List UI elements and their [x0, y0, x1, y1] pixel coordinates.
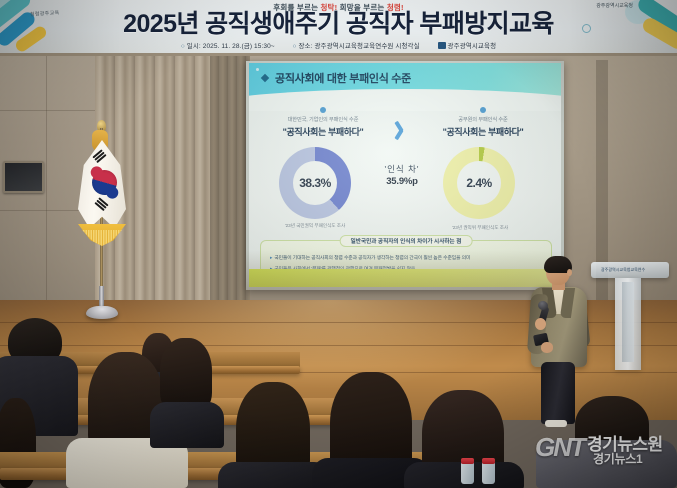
presenter-trousers	[541, 362, 575, 424]
audience-body	[150, 402, 224, 448]
donut-left-value: 38.3	[299, 176, 320, 190]
podium-logo-text: 광주광역시교육청교육연수원	[601, 265, 645, 274]
compare-dot-icon-right	[480, 107, 486, 113]
slide-bottom-band	[249, 269, 561, 287]
flag-fringe-threads	[82, 230, 122, 246]
wall-seam	[46, 55, 47, 325]
gap-value-text: 35.9%p	[366, 176, 438, 187]
slide-footer-title: 일반국민과 공직자의 인식의 차이가 시사하는 점	[340, 235, 473, 247]
donut-left-source: '23년 국민권익 부패인식도 조사	[250, 223, 380, 229]
audience-head	[160, 338, 212, 412]
slide-compare-right: 공무원의 부패인식 수준 "공직사회는 부패하다"	[413, 107, 553, 138]
presentation-slide: 공직사회에 대한 부패인식 수준 대한민국, 기업인의 부패인식 수준 "공직사…	[249, 63, 561, 287]
flag-stand-base	[86, 306, 118, 319]
water-bottle	[482, 462, 495, 484]
podium-top: 광주광역시교육청교육연수원	[591, 262, 669, 278]
slide-compare-left: 대한민국, 기업인의 부패인식 수준 "공직사회는 부패하다"	[253, 107, 393, 138]
compare-left-quote: "공직사회는 부패하다"	[253, 125, 393, 138]
presenter-shoe	[545, 420, 567, 427]
donut-right-source: '23년 권익위 부패인식도 조사	[415, 225, 545, 231]
donut-right-value: 2.4	[466, 176, 481, 190]
wall-seam	[0, 110, 100, 111]
korean-flag	[72, 118, 132, 328]
event-banner: 청렴광주교육 광주광역시교육청 후회를 부르는 청탁! 희망을 부르는 청렴! …	[0, 0, 677, 56]
presenter	[527, 256, 593, 426]
presenter-left-hand	[535, 318, 546, 330]
slide-footer-bullet-1: ▸국민들이 기대하는 공직사회의 청렴 수준과 공직자가 생각하는 청렴의 간극…	[270, 254, 470, 261]
wall-panel	[3, 161, 44, 193]
compare-right-caption: 공무원의 부패인식 수준	[413, 116, 553, 123]
water-bottle	[461, 462, 474, 484]
donut-left-center: 38.3%	[293, 161, 337, 205]
podium: 광주광역시교육청교육연수원	[601, 262, 659, 372]
slide-header-dot	[256, 68, 259, 71]
water-bottle-cap	[482, 458, 495, 464]
footer-line-1-text: 국민들이 기대하는 공직사회의 청렴 수준과 공직자가 생각하는 청렴의 간극이…	[274, 256, 470, 261]
compare-left-caption: 대한민국, 기업인의 부패인식 수준	[253, 116, 393, 123]
audience-body	[536, 440, 677, 488]
stage-curtain-shadow	[210, 55, 250, 323]
donut-right-center: 2.4%	[457, 161, 501, 205]
banner-lighting	[0, 0, 677, 53]
compare-dot-icon-left	[320, 107, 326, 113]
donut-left-unit: %	[321, 176, 331, 190]
donut-right-unit: %	[482, 176, 492, 190]
presenter-ear	[567, 269, 572, 276]
bullet-arrow-icon: ▸	[270, 256, 272, 261]
compare-right-quote: "공직사회는 부패하다"	[413, 125, 553, 138]
donut-chart-right: 2.4%	[443, 147, 515, 219]
gap-label-text: '인식 차'	[366, 163, 438, 175]
water-bottle-cap	[461, 458, 474, 464]
gap-annotation: '인식 차' 35.9%p	[366, 163, 438, 187]
photo-scene: 청렴광주교육 광주광역시교육청 후회를 부르는 청탁! 희망을 부르는 청렴! …	[0, 0, 677, 488]
podium-inner-panel	[622, 282, 634, 362]
donut-chart-left: 38.3%	[279, 147, 351, 219]
slide-title: 공직사회에 대한 부패인식 수준	[275, 70, 411, 86]
presenter-right-hand	[541, 342, 553, 353]
chevron-right-icon	[395, 121, 407, 139]
